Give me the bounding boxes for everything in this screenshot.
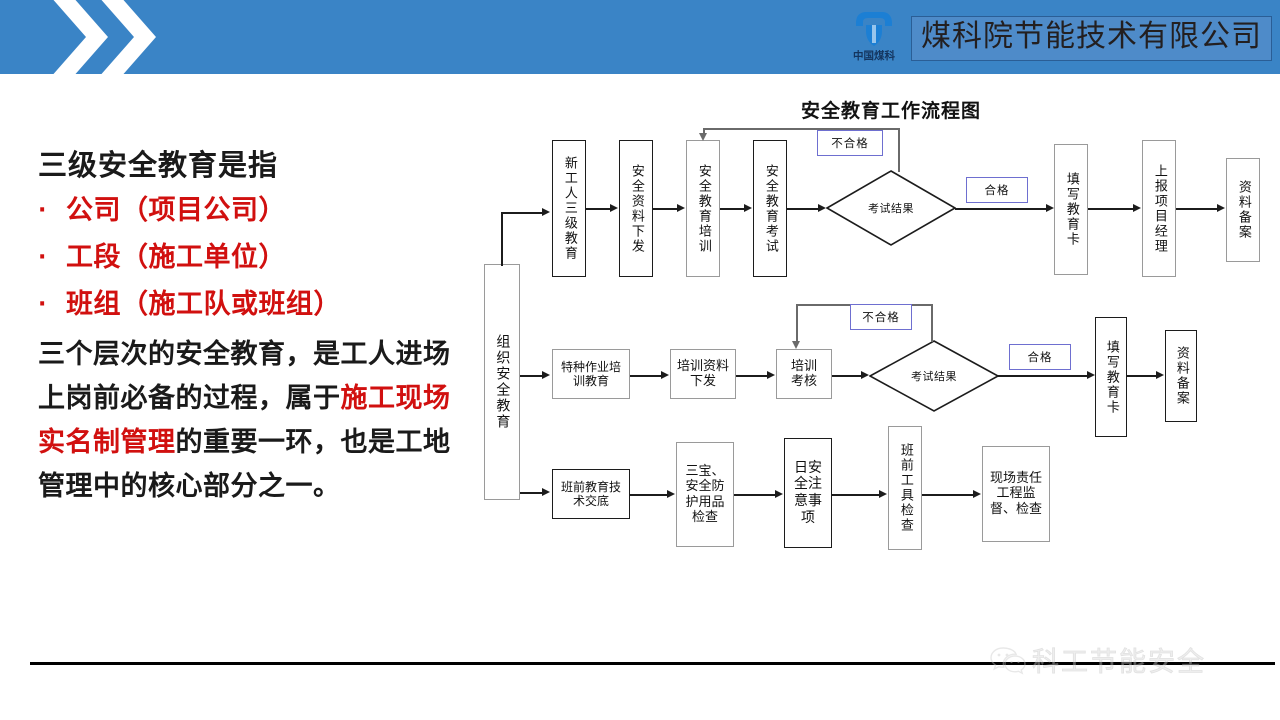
flow-decision-exam-result-2[interactable]: 考试结果	[869, 340, 999, 412]
flow-node-special-operation-training[interactable]: 特种作业培训教育	[552, 349, 630, 399]
flow-decision-exam-result-1[interactable]: 考试结果	[826, 170, 956, 246]
connector-root-to-row1	[501, 212, 543, 214]
bullet-dot-icon: ·	[38, 239, 66, 277]
flow-node-label: 上报项目经理	[1152, 164, 1166, 254]
flow-node-label: 新工人三级教育	[562, 156, 576, 261]
flow-node-label: 填写教育卡	[1064, 172, 1078, 247]
flow-node-fill-education-card-1[interactable]: 填写教育卡	[1054, 144, 1088, 275]
flow-node-label: 安全教育培训	[696, 164, 710, 254]
flow-node-training-assessment[interactable]: 培训考核	[776, 349, 832, 399]
logo-glyph-icon	[852, 9, 896, 49]
list-item: · 班组（施工队或班组）	[38, 286, 468, 324]
company-name: 煤科院节能技术有限公司	[921, 20, 1262, 54]
arrow-r1-fail-into-training	[699, 133, 707, 141]
flow-decision-label: 考试结果	[826, 170, 956, 246]
arrow-r1-pass	[1046, 204, 1054, 212]
flow-node-label: 培训考核	[789, 359, 819, 390]
footer-watermark: 科工节能安全	[990, 640, 1206, 679]
flow-tag-pass-1: 合格	[966, 177, 1028, 203]
connector-r1-fail-up	[898, 128, 900, 172]
arrow-root-to-row2	[542, 371, 550, 379]
connector-r3-4	[922, 494, 974, 496]
connector-r3-1	[630, 494, 668, 496]
arrow-r2-fail-into-training	[792, 341, 800, 349]
flow-node-label: 培训资料下发	[676, 359, 730, 390]
connector-r2-fail-up	[931, 304, 933, 342]
flow-node-label: 特种作业培训教育	[560, 360, 622, 388]
connector-root-to-row2	[520, 375, 543, 377]
flow-tag-pass-2-label: 合格	[1028, 349, 1053, 365]
bullet-label-company: 公司（项目公司）	[66, 192, 286, 230]
flow-node-preshift-technical-briefing[interactable]: 班前教育技术交底	[552, 469, 630, 519]
flow-node-safety-exam[interactable]: 安全教育考试	[753, 140, 787, 277]
arrow-r3-3	[879, 490, 887, 498]
connector-r1-3	[720, 208, 745, 210]
body-paragraph: 三个层次的安全教育，是工人进场上岗前必备的过程，属于施工现场实名制管理的重要一环…	[38, 333, 468, 509]
flow-node-ppe-check[interactable]: 三宝、安全防护用品检查	[676, 442, 734, 547]
connector-r1-1	[586, 208, 611, 210]
flow-tag-pass-2: 合格	[1009, 344, 1071, 370]
connector-r1-pass	[955, 208, 1047, 210]
connector-r2-fail-down	[796, 304, 798, 342]
flow-tag-fail-2-label: 不合格	[862, 309, 900, 325]
company-name-box: 煤科院节能技术有限公司	[911, 16, 1272, 61]
connector-r2-1	[630, 375, 662, 377]
watermark-label: 科工节能安全	[1032, 640, 1206, 679]
flowchart-title: 安全教育工作流程图	[766, 96, 1016, 123]
flow-tag-fail-2: 不合格	[850, 304, 912, 330]
arrow-r2-3	[861, 371, 869, 379]
flow-node-safety-training[interactable]: 安全教育培训	[686, 140, 720, 277]
wechat-icon	[990, 645, 1026, 675]
arrow-r1-3	[744, 204, 752, 212]
flow-node-label: 资料备案	[1236, 180, 1250, 240]
connector-r1-2	[653, 208, 678, 210]
logo-subtitle: 中国煤科	[853, 50, 895, 62]
brand-logo-group: 中国煤科 煤科院节能技术有限公司	[843, 5, 1272, 71]
connector-root-trunk	[501, 212, 503, 266]
connector-r1-6	[1176, 208, 1218, 210]
arrow-r1-4	[818, 204, 826, 212]
arrow-r3-1	[667, 490, 675, 498]
flow-node-label: 日安全注意事项	[792, 460, 824, 526]
arrow-root-to-row1	[542, 208, 550, 216]
page-header: 中国煤科 煤科院节能技术有限公司	[0, 0, 1280, 74]
arrow-r1-1	[610, 204, 618, 212]
flow-node-label: 安全资料下发	[629, 164, 643, 254]
flow-node-archive-1[interactable]: 资料备案	[1226, 158, 1260, 262]
arrow-r1-2	[677, 204, 685, 212]
bullet-label-section: 工段（施工单位）	[66, 239, 286, 277]
chevron-right-icon-2	[98, 0, 156, 74]
flow-node-label: 现场责任工程监督、检查	[990, 471, 1042, 517]
arrow-r2-2	[767, 371, 775, 379]
arrow-r2-1	[661, 371, 669, 379]
connector-r1-5	[1088, 208, 1134, 210]
arrow-r3-4	[973, 490, 981, 498]
flow-node-preshift-tool-check[interactable]: 班前工具检查	[888, 426, 922, 550]
left-text-panel: 三级安全教育是指 · 公司（项目公司） · 工段（施工单位） · 班组（施工队或…	[38, 146, 468, 509]
flow-tag-pass-1-label: 合格	[985, 182, 1010, 198]
bullet-dot-icon: ·	[38, 192, 66, 230]
flow-node-archive-2[interactable]: 资料备案	[1165, 330, 1197, 422]
flow-tag-fail-1-label: 不合格	[831, 135, 869, 151]
connector-r3-2	[734, 494, 776, 496]
arrow-r2-4	[1156, 371, 1164, 379]
connector-r2-pass	[998, 375, 1088, 377]
flow-node-label: 三宝、安全防护用品检查	[683, 464, 727, 525]
connector-r2-3	[832, 375, 862, 377]
flow-decision-label: 考试结果	[869, 340, 999, 412]
flow-node-label: 班前工具检查	[898, 443, 912, 533]
flow-tag-fail-1: 不合格	[817, 130, 883, 156]
bullet-dot-icon: ·	[38, 286, 66, 324]
flow-node-label: 填写教育卡	[1104, 340, 1118, 415]
arrow-r1-5	[1133, 204, 1141, 212]
arrow-r2-pass	[1087, 371, 1095, 379]
bullet-label-team: 班组（施工队或班组）	[66, 286, 341, 324]
flow-node-daily-safety-notes[interactable]: 日安全注意事项	[784, 438, 832, 548]
chevron-decoration	[50, 0, 230, 74]
flow-node-report-to-manager[interactable]: 上报项目经理	[1142, 140, 1176, 277]
flow-node-site-engineer-supervision[interactable]: 现场责任工程监督、检查	[982, 446, 1050, 542]
flow-node-label: 班前教育技术交底	[560, 480, 622, 508]
coal-science-logo: 中国煤科	[843, 7, 905, 69]
connector-r2-4	[1127, 375, 1157, 377]
arrow-r1-6	[1217, 204, 1225, 212]
flow-node-safety-docs-issue[interactable]: 安全资料下发	[619, 140, 653, 277]
arrow-root-to-row3	[542, 488, 550, 496]
flow-node-fill-education-card-2[interactable]: 填写教育卡	[1095, 317, 1127, 437]
list-item: · 工段（施工单位）	[38, 239, 468, 277]
connector-r3-3	[832, 494, 880, 496]
connector-r1-4	[787, 208, 819, 210]
flow-node-label: 安全教育考试	[763, 164, 777, 254]
flow-node-root[interactable]: 组织安全教育	[484, 264, 520, 500]
flowchart: 安全教育工作流程图 组织安全教育 新工人三级教育 安全资料下发 安全教育培训 安…	[466, 92, 1280, 592]
connector-root-to-row3	[520, 492, 543, 494]
arrow-r3-2	[775, 490, 783, 498]
flow-node-root-label: 组织安全教育	[495, 334, 510, 430]
page-title: 三级安全教育是指	[38, 146, 468, 184]
list-item: · 公司（项目公司）	[38, 192, 468, 230]
flow-node-label: 资料备案	[1174, 346, 1188, 406]
flow-node-training-docs-issue[interactable]: 培训资料下发	[670, 349, 736, 399]
flow-node-new-worker-training[interactable]: 新工人三级教育	[552, 140, 586, 277]
connector-r2-2	[736, 375, 768, 377]
